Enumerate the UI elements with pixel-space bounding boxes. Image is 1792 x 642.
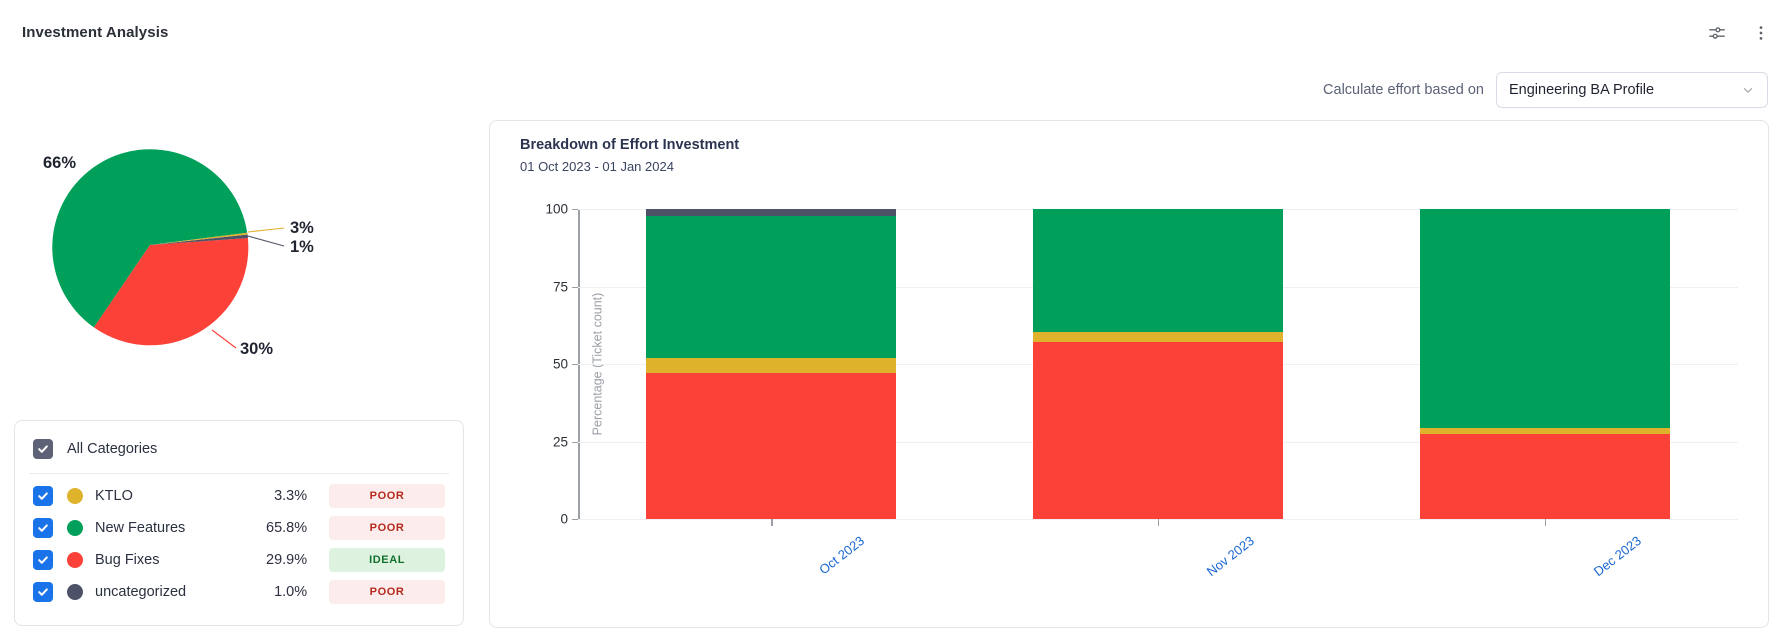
chart-title: Breakdown of Effort Investment [520,137,739,153]
category-checkbox-uncategorized[interactable] [33,582,53,602]
page-title: Investment Analysis [22,24,168,41]
effort-profile-value: Engineering BA Profile [1509,82,1741,98]
category-name: Bug Fixes [95,552,240,568]
category-name: New Features [95,520,240,536]
status-badge: POOR [329,516,445,540]
effort-profile-control: Calculate effort based on Engineering BA… [1323,72,1768,108]
stacked-bar[interactable] [646,209,896,519]
category-checkbox-ktlo[interactable] [33,486,53,506]
y-axis-tick-label: 75 [553,279,568,294]
status-badge: POOR [329,484,445,508]
effort-profile-label: Calculate effort based on [1323,82,1484,98]
bar-segment-bug-fixes[interactable] [1420,434,1670,519]
x-axis-tick-mark [1545,519,1546,526]
color-swatch-new-features [67,520,83,536]
category-name: uncategorized [95,584,240,600]
bar-plot-area: 0255075100Oct 2023Nov 2023Dec 2023 [578,209,1738,519]
x-axis-tick-label[interactable]: Dec 2023 [1590,533,1643,579]
effort-breakdown-card: Breakdown of Effort Investment 01 Oct 20… [489,120,1769,628]
settings-sliders-icon[interactable] [1704,20,1730,46]
chart-date-range: 01 Oct 2023 - 01 Jan 2024 [520,159,674,174]
bar-segment-new-features[interactable] [1420,209,1670,428]
list-item[interactable]: uncategorized 1.0% POOR [29,576,449,608]
pie-label-uncategorized: 1% [290,238,314,256]
more-vertical-icon[interactable] [1748,20,1774,46]
header-icon-group [1704,20,1774,46]
x-axis-tick-mark [1158,519,1159,526]
bar-segment-ktlo[interactable] [646,358,896,374]
investment-analysis-page: Investment Analysis Calculate effort bas… [0,0,1792,642]
category-checkbox-bug-fixes[interactable] [33,550,53,570]
color-swatch-ktlo [67,488,83,504]
list-item[interactable]: New Features 65.8% POOR [29,512,449,544]
bar-segment-ktlo[interactable] [1033,332,1283,342]
category-name: KTLO [95,488,240,504]
list-item[interactable]: Bug Fixes 29.9% IDEAL [29,544,449,576]
all-categories-checkbox[interactable] [33,439,53,459]
status-badge: POOR [329,580,445,604]
y-axis-tick-label: 0 [560,512,568,527]
stacked-bar[interactable] [1033,209,1283,519]
category-legend-card: All Categories KTLO 3.3% POOR New Featur… [14,420,464,626]
effort-profile-select[interactable]: Engineering BA Profile [1496,72,1768,108]
list-item[interactable]: KTLO 3.3% POOR [29,480,449,512]
color-swatch-uncategorized [67,584,83,600]
category-percent: 3.3% [240,488,307,504]
y-axis-tick-mark [572,209,578,210]
pie-leader-line-ktlo [248,228,284,232]
bar-segment-uncategorized[interactable] [646,209,896,216]
all-categories-label: All Categories [67,441,157,457]
category-percent: 65.8% [240,520,307,536]
pie-leader-line-uncategorized [248,236,284,246]
bar-segment-new-features[interactable] [646,216,896,358]
x-axis-tick-label[interactable]: Oct 2023 [817,533,868,577]
y-axis-tick-mark [572,364,578,365]
color-swatch-bug-fixes [67,552,83,568]
bar-segment-bug-fixes[interactable] [646,373,896,519]
category-rows: KTLO 3.3% POOR New Features 65.8% POOR B… [29,474,449,608]
y-axis-tick-label: 50 [553,357,568,372]
x-axis-tick-mark [771,519,772,526]
category-percent: 1.0% [240,584,307,600]
pie-label-bug-fixes: 30% [240,340,273,358]
y-axis-tick-mark [572,519,578,520]
chevron-down-icon [1741,83,1755,97]
pie-label-ktlo: 3% [290,219,314,237]
y-axis-tick-label: 25 [553,434,568,449]
bar-segment-bug-fixes[interactable] [1033,342,1283,519]
y-axis-tick-mark [572,442,578,443]
pie-leader-line-bug-fixes [212,330,236,348]
x-axis-tick-label[interactable]: Nov 2023 [1204,533,1257,579]
status-badge: IDEAL [329,548,445,572]
y-axis-tick-mark [572,287,578,288]
pie-label-new-features: 66% [43,154,76,172]
stacked-bar[interactable] [1420,209,1670,519]
category-percent: 29.9% [240,552,307,568]
all-categories-row[interactable]: All Categories [29,433,449,474]
pie-svg: 66% 3% 1% 30% [12,130,472,380]
effort-distribution-pie-chart: 66% 3% 1% 30% [12,130,472,380]
bar-segment-new-features[interactable] [1033,209,1283,332]
category-checkbox-new-features[interactable] [33,518,53,538]
y-axis-tick-label: 100 [545,202,568,217]
